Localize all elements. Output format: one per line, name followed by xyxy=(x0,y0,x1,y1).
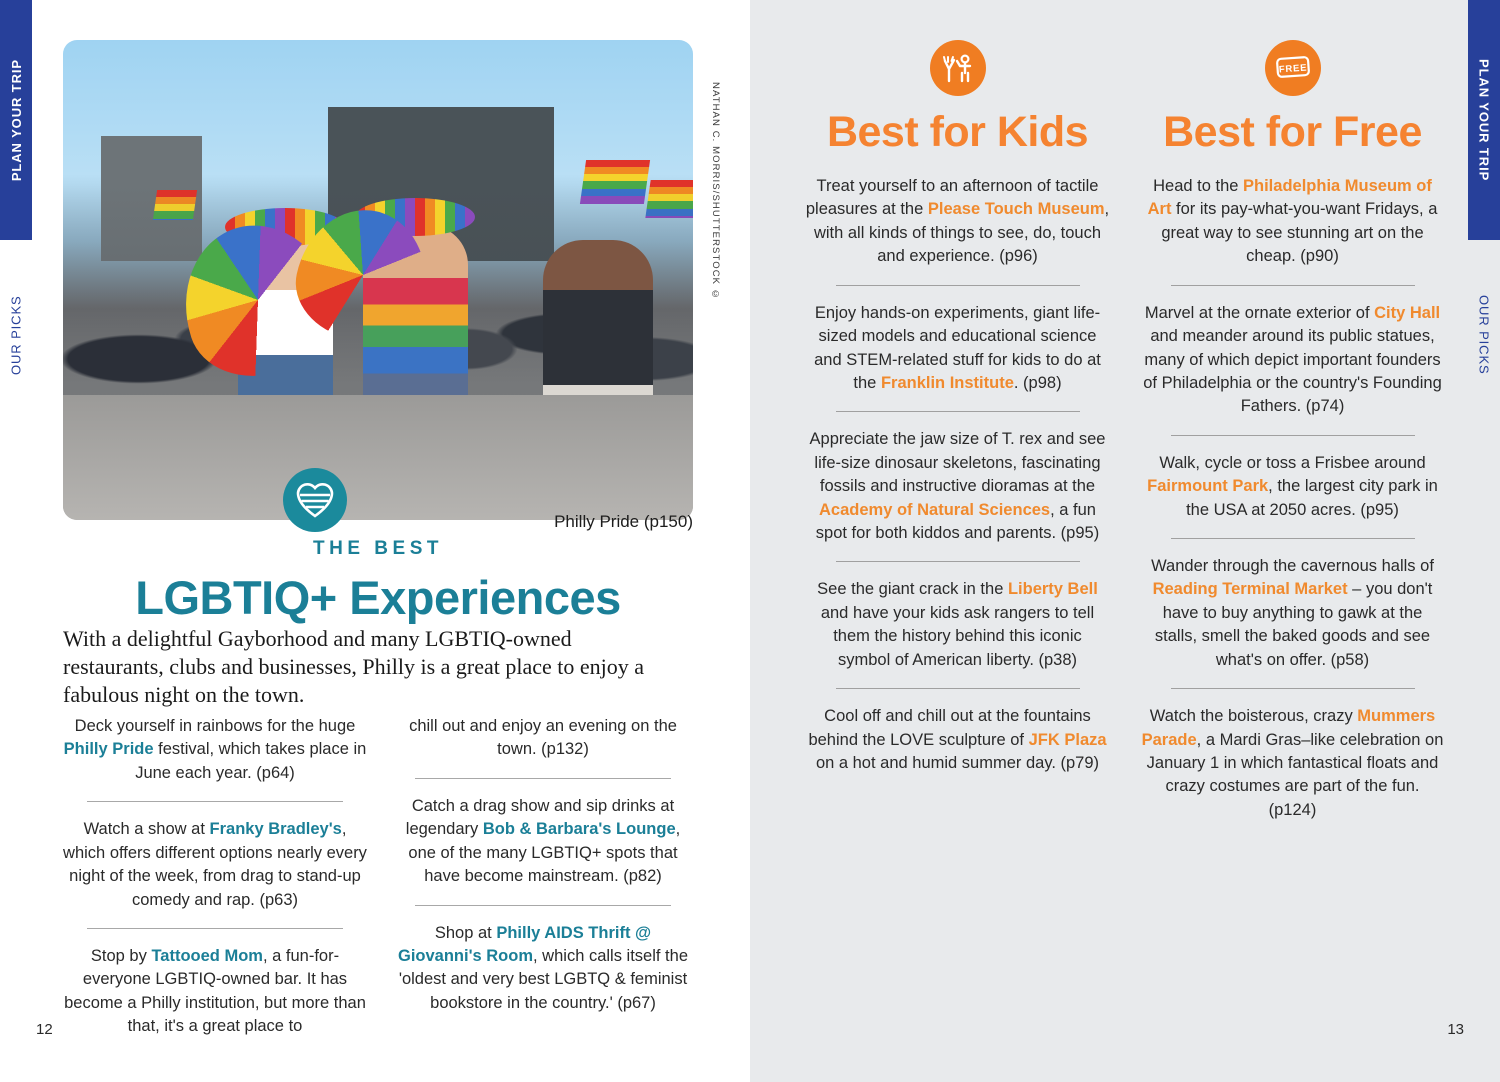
section-best-for-kids: Best for Kids Treat yourself to an after… xyxy=(805,40,1110,822)
best-highlight[interactable]: Fairmount Park xyxy=(1147,477,1268,495)
page-number-left: 12 xyxy=(36,1021,53,1038)
section-title: Best for Kids xyxy=(805,108,1110,157)
best-highlight[interactable]: Franklin Institute xyxy=(881,374,1014,392)
best-divider xyxy=(836,285,1080,286)
book-spread: PLAN YOUR TRIP OUR PICKS xyxy=(0,0,1500,1082)
best-text-pre: Head to the xyxy=(1153,177,1243,195)
tab-our-picks: OUR PICKS xyxy=(0,255,32,415)
picks-column-one: Deck yourself in rainbows for the huge P… xyxy=(63,715,367,1039)
child-with-kite-icon xyxy=(930,40,986,96)
best-divider xyxy=(1171,285,1415,286)
best-highlight[interactable]: JFK Plaza xyxy=(1029,731,1107,749)
tab-plan-your-trip-label: PLAN YOUR TRIP xyxy=(1477,59,1492,181)
best-item: Enjoy hands-on experiments, giant life-s… xyxy=(805,302,1110,396)
best-item: Walk, cycle or toss a Frisbee around Fai… xyxy=(1140,452,1445,522)
best-divider xyxy=(1171,688,1415,689)
striped-heart-icon xyxy=(283,468,347,532)
page-number-right: 13 xyxy=(1447,1021,1464,1038)
best-highlight[interactable]: Liberty Bell xyxy=(1008,580,1098,598)
best-divider xyxy=(1171,435,1415,436)
tab-plan-your-trip-label: PLAN YOUR TRIP xyxy=(9,59,24,181)
pick-item: Stop by Tattooed Mom, a fun-for-everyone… xyxy=(63,945,367,1039)
best-item: Marvel at the ornate exterior of City Ha… xyxy=(1140,302,1445,419)
pick-text-pre: Deck yourself in rainbows for the huge xyxy=(75,717,356,735)
pick-highlight[interactable]: Tattooed Mom xyxy=(151,947,263,965)
pick-text-pre: Shop at xyxy=(435,924,496,942)
best-divider xyxy=(836,411,1080,412)
best-divider xyxy=(836,561,1080,562)
best-highlight[interactable]: Academy of Natural Sciences xyxy=(819,501,1050,519)
tab-plan-your-trip: PLAN YOUR TRIP xyxy=(1468,0,1500,240)
best-text-post: . (p98) xyxy=(1014,374,1062,392)
pick-item: Catch a drag show and sip drinks at lege… xyxy=(391,795,695,889)
best-highlight[interactable]: Reading Terminal Market xyxy=(1153,580,1348,598)
page-title: LGBTIQ+ Experiences xyxy=(63,570,693,625)
best-text-post: for its pay-what-you-want Fridays, a gre… xyxy=(1161,200,1437,265)
pick-divider xyxy=(87,801,342,802)
section-title: Best for Free xyxy=(1140,108,1445,157)
pick-highlight[interactable]: Bob & Barbara's Lounge xyxy=(483,820,676,838)
pick-text-pre: chill out and enjoy an evening on the to… xyxy=(409,717,677,758)
best-text-pre: Walk, cycle or toss a Frisbee around xyxy=(1159,454,1425,472)
free-stamp-icon: FREE xyxy=(1265,40,1321,96)
left-edge-tabs: PLAN YOUR TRIP OUR PICKS xyxy=(0,0,32,1082)
pick-text-pre: Stop by xyxy=(91,947,152,965)
best-text-pre: Appreciate the jaw size of T. rex and se… xyxy=(810,430,1106,495)
pick-divider xyxy=(87,928,342,929)
best-divider xyxy=(1171,538,1415,539)
best-text-pre: Watch the boisterous, crazy xyxy=(1150,707,1358,725)
best-item: Wander through the cavernous halls of Re… xyxy=(1140,555,1445,672)
pick-text-post: festival, which takes place in June each… xyxy=(135,740,366,781)
tab-our-picks: OUR PICKS xyxy=(1468,255,1500,415)
best-text-post: and meander around its public statues, m… xyxy=(1143,327,1442,415)
tab-our-picks-label: OUR PICKS xyxy=(1477,295,1492,375)
tab-plan-your-trip: PLAN YOUR TRIP xyxy=(0,0,32,240)
pick-highlight[interactable]: Philly Pride xyxy=(64,740,154,758)
right-edge-tabs: PLAN YOUR TRIP OUR PICKS xyxy=(1468,0,1500,1082)
best-text-pre: Wander through the cavernous halls of xyxy=(1151,557,1434,575)
best-item: Appreciate the jaw size of T. rex and se… xyxy=(805,428,1110,545)
best-text-pre: Marvel at the ornate exterior of xyxy=(1145,304,1374,322)
best-text-pre: See the giant crack in the xyxy=(817,580,1008,598)
right-page: Best for Kids Treat yourself to an after… xyxy=(750,0,1500,1082)
best-item: Treat yourself to an afternoon of tactil… xyxy=(805,175,1110,269)
photo-street xyxy=(63,395,693,520)
best-item: Cool off and chill out at the fountains … xyxy=(805,705,1110,775)
best-divider xyxy=(836,688,1080,689)
kicker: THE BEST xyxy=(63,538,693,560)
best-highlight[interactable]: City Hall xyxy=(1374,304,1440,322)
section-best-for-free: FREE Best for Free Head to the Philadelp… xyxy=(1140,40,1445,822)
pick-divider xyxy=(415,905,670,906)
best-text-post: and have your kids ask rangers to tell t… xyxy=(821,604,1094,669)
picks-columns: Deck yourself in rainbows for the huge P… xyxy=(63,715,695,1039)
free-stamp-text: FREE xyxy=(1278,63,1307,76)
best-for-sections: Best for Kids Treat yourself to an after… xyxy=(805,40,1445,822)
photo-credit: NATHAN C. MORRIS/SHUTTERSTOCK © xyxy=(710,82,721,301)
pick-item-continuation: chill out and enjoy an evening on the to… xyxy=(391,715,695,762)
picks-column-two: chill out and enjoy an evening on the to… xyxy=(391,715,695,1039)
left-page: PLAN YOUR TRIP OUR PICKS xyxy=(0,0,750,1082)
pride-photo xyxy=(63,40,693,520)
tab-our-picks-label: OUR PICKS xyxy=(9,295,24,375)
pick-item: Deck yourself in rainbows for the huge P… xyxy=(63,715,367,785)
best-item: See the giant crack in the Liberty Bell … xyxy=(805,578,1110,672)
best-item: Watch the boisterous, crazy Mummers Para… xyxy=(1140,705,1445,822)
pick-highlight[interactable]: Franky Bradley's xyxy=(210,820,342,838)
pick-item: Watch a show at Franky Bradley's, which … xyxy=(63,818,367,912)
photo-caption: Philly Pride (p150) xyxy=(554,512,693,532)
pick-divider xyxy=(415,778,670,779)
intro-paragraph: With a delightful Gayborhood and many LG… xyxy=(63,625,663,709)
best-item: Head to the Philadelphia Museum of Art f… xyxy=(1140,175,1445,269)
pick-item: Shop at Philly AIDS Thrift @ Giovanni's … xyxy=(391,922,695,1016)
pride-photo-container: NATHAN C. MORRIS/SHUTTERSTOCK © xyxy=(63,40,693,520)
best-text-post: on a hot and humid summer day. (p79) xyxy=(816,754,1099,772)
pick-text-pre: Watch a show at xyxy=(84,820,210,838)
best-highlight[interactable]: Please Touch Museum xyxy=(928,200,1105,218)
